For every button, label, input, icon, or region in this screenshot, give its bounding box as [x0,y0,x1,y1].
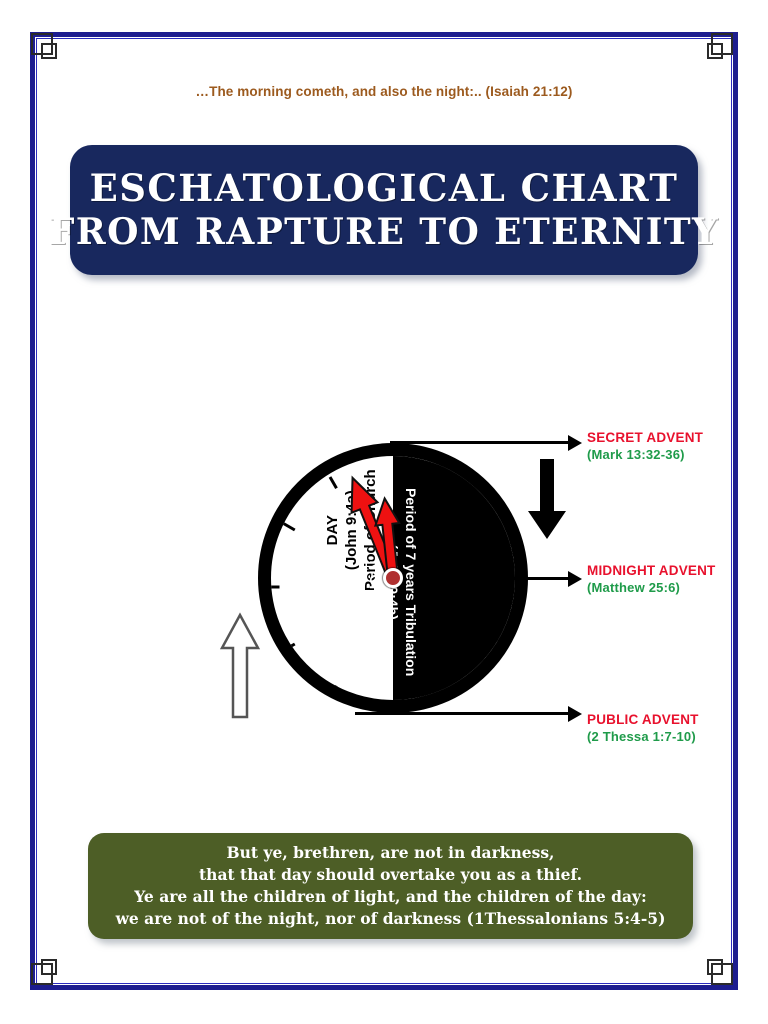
advent-label-public: PUBLIC ADVENT (2 Thessa 1:7-10) [587,712,699,744]
clock-tick-mark [328,685,337,698]
clock-tick-mark [282,643,295,652]
advent-title-secret: SECRET ADVENT [587,430,703,445]
upward-block-arrow [218,612,262,720]
quote-line-3: Ye are all the children of light, and th… [134,886,647,908]
public-advent-arrow-line [355,712,570,715]
advent-title-public: PUBLIC ADVENT [587,712,699,727]
advent-reference-midnight: (Matthew 25:6) [587,580,716,595]
eschatological-clock-diagram: DAY (John 9:4a) Period of Church Period … [258,443,528,713]
advent-label-midnight: MIDNIGHT ADVENT (Matthew 25:6) [587,563,716,595]
advent-reference-secret: (Mark 13:32-36) [587,447,703,462]
advent-title-midnight: MIDNIGHT ADVENT [587,563,716,578]
corner-ornament-inner-top-left [41,43,57,59]
corner-ornament-inner-bottom-left [41,959,57,975]
secret-advent-arrow-line [390,441,570,444]
quote-line-4: we are not of the night, nor of darkness… [116,908,666,930]
clock-tick-mark [266,586,279,589]
title-banner: ESCHATOLOGICAL CHART FROM RAPTURE TO ETE… [70,145,698,275]
top-scripture-verse: …The morning cometh, and also the night:… [0,84,768,99]
corner-ornament-inner-bottom-right [707,959,723,975]
advent-reference-public: (2 Thessa 1:7-10) [587,729,699,744]
quote-line-1: But ye, brethren, are not in darkness, [227,842,555,864]
quote-line-2: that that day should overtake you as a t… [199,864,582,886]
downward-block-arrow [526,459,568,541]
advent-label-secret: SECRET ADVENT (Mark 13:32-36) [587,430,703,462]
midnight-advent-arrow-head [568,571,582,587]
page-title-line-2: FROM RAPTURE TO ETERNITY [49,211,719,253]
public-advent-arrow-head [568,706,582,722]
bottom-scripture-box: But ye, brethren, are not in darkness, t… [88,833,693,939]
midnight-advent-arrow-line [513,577,571,580]
corner-ornament-inner-top-right [707,43,723,59]
clock-center-hub [383,568,403,588]
page-title-line-1: ESCHATOLOGICAL CHART [90,167,679,211]
secret-advent-arrow-head [568,435,582,451]
clock-tick-mark [282,522,295,531]
